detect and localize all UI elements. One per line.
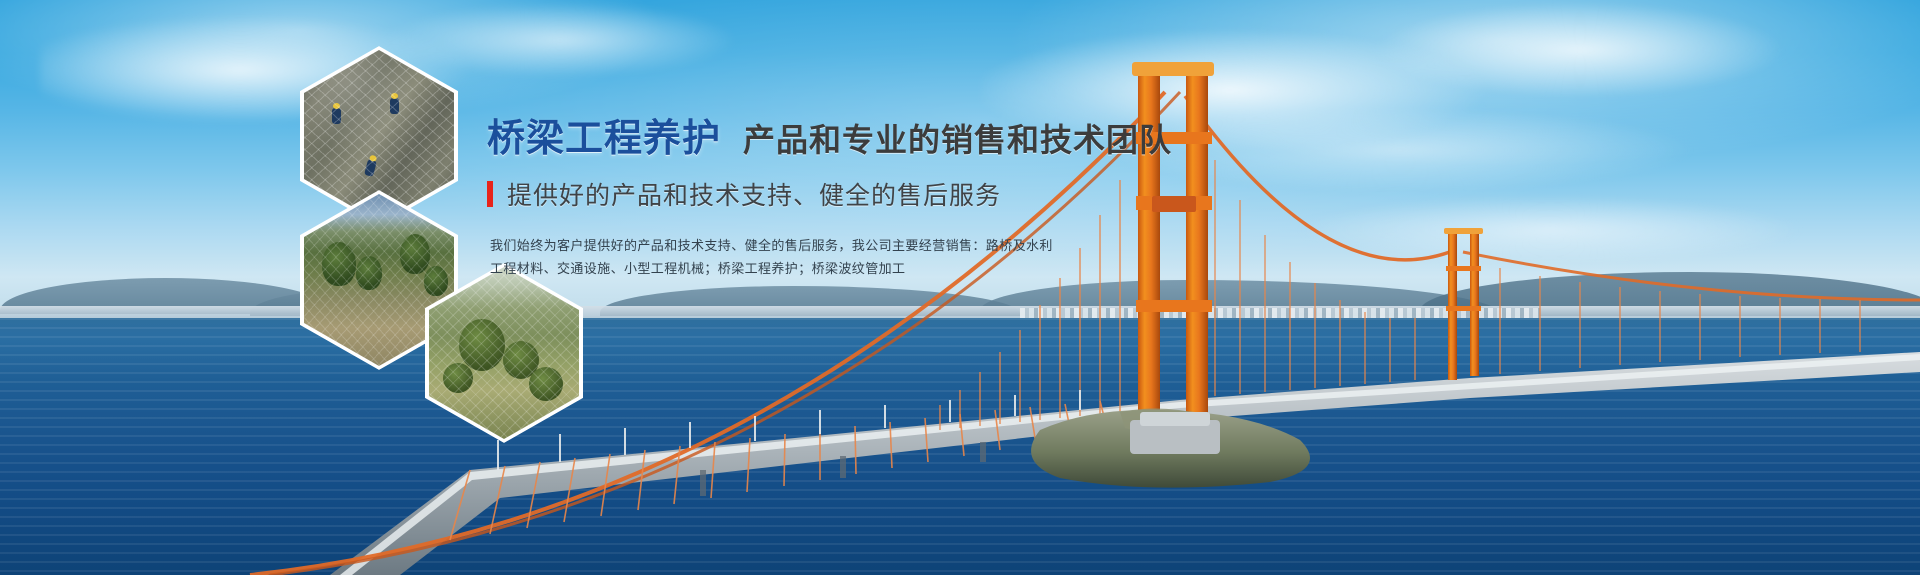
hero-banner: 桥梁工程养护 产品和专业的销售和技术团队 提供好的产品和技术支持、健全的售后服务…	[0, 0, 1920, 575]
paragraph-line-1: 我们始终为客户提供好的产品和技术支持、健全的售后服务，我公司主要经营销售：路桥及…	[490, 234, 1387, 257]
headline-secondary: 产品和专业的销售和技术团队	[743, 124, 1172, 158]
tree-shape	[322, 242, 356, 286]
worker-figure	[390, 98, 399, 114]
worker-figure	[364, 159, 377, 177]
headline-primary: 桥梁工程养护	[487, 120, 721, 160]
subheadline-text: 提供好的产品和技术支持、健全的售后服务	[507, 176, 1001, 212]
worker-figure	[332, 108, 341, 124]
red-accent-bar	[487, 181, 493, 207]
bush-shape	[503, 341, 539, 379]
banner-paragraph: 我们始终为客户提供好的产品和技术支持、健全的售后服务，我公司主要经营销售：路桥及…	[490, 234, 1387, 280]
banner-text-block: 桥梁工程养护 产品和专业的销售和技术团队 提供好的产品和技术支持、健全的售后服务…	[487, 120, 1387, 280]
tree-shape	[424, 266, 448, 296]
banner-subheadline: 提供好的产品和技术支持、健全的售后服务	[487, 176, 1387, 212]
paragraph-line-2: 工程材料、交通设施、小型工程机械；桥梁工程养护；桥梁波纹管加工	[490, 257, 1387, 280]
bush-shape	[443, 363, 473, 393]
bush-shape	[459, 319, 505, 371]
bush-shape	[529, 367, 563, 401]
banner-headline: 桥梁工程养护 产品和专业的销售和技术团队	[487, 120, 1387, 160]
tree-shape	[356, 256, 382, 290]
hex-photo-collage	[0, 0, 560, 460]
tree-shape	[400, 234, 430, 274]
